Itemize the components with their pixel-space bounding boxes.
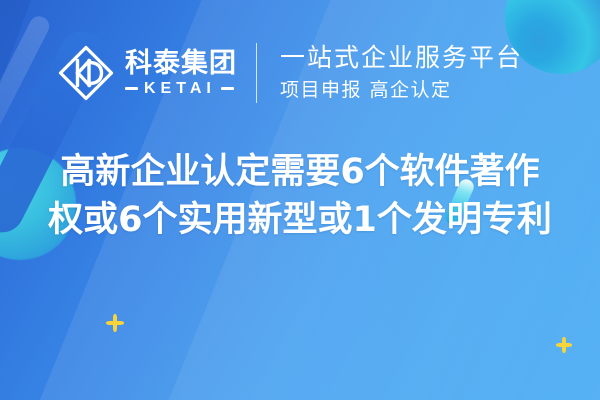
banner-header: 科泰集团 KETAI 一站式企业服务平台 项目申报 高企认定	[0, 38, 600, 108]
promo-banner: 科泰集团 KETAI 一站式企业服务平台 项目申报 高企认定 高新企业认定需要6…	[0, 0, 600, 400]
logo-company-name-en-row: KETAI	[125, 81, 237, 97]
logo-dash-left-icon	[125, 87, 138, 90]
sparkle-icon-bottom-left	[106, 314, 124, 332]
ketai-logo[interactable]: 科泰集团 KETAI	[56, 43, 237, 103]
header-tagline-block: 一站式企业服务平台 项目申报 高企认定	[280, 43, 523, 103]
headline-line-1: 高新企业认定需要6个软件著作	[0, 148, 600, 196]
header-divider	[256, 43, 257, 103]
logo-company-name-cn: 科泰集团	[125, 49, 237, 78]
header-services: 项目申报 高企认定	[280, 79, 523, 103]
ketai-logo-text: 科泰集团 KETAI	[125, 49, 237, 96]
header-tagline: 一站式企业服务平台	[280, 43, 523, 73]
sparkle-icon-bottom-right	[556, 337, 572, 353]
banner-headline: 高新企业认定需要6个软件著作 权或6个实用新型或1个发明专利	[0, 148, 600, 244]
logo-dash-right-icon	[221, 87, 234, 90]
logo-company-name-en: KETAI	[138, 81, 221, 97]
headline-line-2: 权或6个实用新型或1个发明专利	[0, 196, 600, 244]
ketai-diamond-k-logo-icon	[56, 43, 116, 103]
